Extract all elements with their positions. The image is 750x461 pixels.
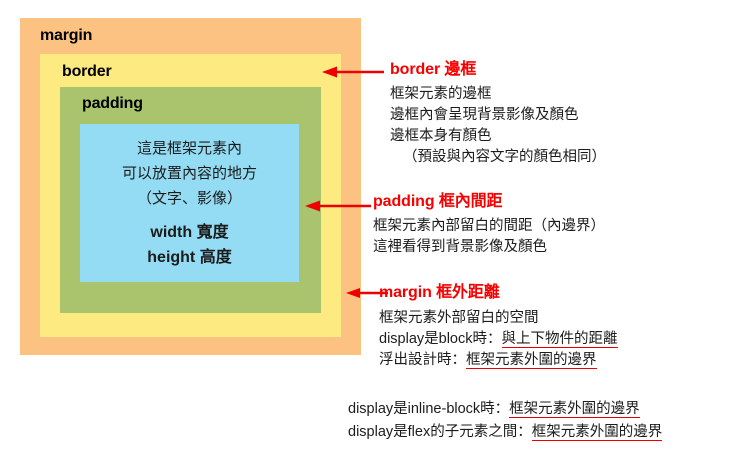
content-line-3: （文字、影像） bbox=[80, 186, 299, 211]
border-arrow-icon bbox=[320, 65, 386, 79]
annotation-border-line-4: （預設與內容文字的顏色相同） bbox=[390, 147, 606, 168]
annotation-extra-rule-2: display是flex的子元素之間：框架元素外圍的邊界 bbox=[348, 421, 662, 444]
annotation-extra-rule-1-prefix: display是inline-block時： bbox=[348, 401, 509, 417]
annotation-margin: margin 框外距離 框架元素外部留白的空間 display是block時：與… bbox=[379, 283, 618, 371]
box-model-diagram: margin border padding 這是框架元素內 可以放置內容的地方 … bbox=[0, 0, 750, 461]
annotation-padding: padding 框內間距 框架元素內部留白的間距（內邊界） 這裡看得到背景影像及… bbox=[373, 192, 605, 258]
content-spacer bbox=[80, 211, 299, 220]
content-box: 這是框架元素內 可以放置內容的地方 （文字、影像） width 寬度 heigh… bbox=[80, 124, 299, 282]
annotation-border-line-2: 邊框內會呈現背景影像及顏色 bbox=[390, 105, 606, 126]
annotation-padding-line-1: 框架元素內部留白的間距（內邊界） bbox=[373, 216, 605, 237]
content-line-1: 這是框架元素內 bbox=[80, 136, 299, 161]
margin-box-label: margin bbox=[40, 27, 92, 45]
content-width-label: width 寬度 bbox=[80, 220, 299, 245]
padding-box-label: padding bbox=[82, 95, 143, 113]
annotation-padding-body: 框架元素內部留白的間距（內邊界） 這裡看得到背景影像及顏色 bbox=[373, 216, 605, 258]
annotation-border-heading: border 邊框 bbox=[390, 60, 606, 80]
annotation-margin-rule-2-prefix: 浮出設計時： bbox=[379, 352, 466, 368]
annotation-border-body: 框架元素的邊框 邊框內會呈現背景影像及顏色 邊框本身有顏色 （預設與內容文字的顏… bbox=[390, 84, 606, 168]
annotation-margin-body: 框架元素外部留白的空間 display是block時：與上下物件的距離 浮出設計… bbox=[379, 308, 618, 371]
annotation-margin-heading: margin 框外距離 bbox=[379, 283, 618, 303]
annotation-margin-line-1: 框架元素外部留白的空間 bbox=[379, 308, 618, 329]
annotation-border-line-3: 邊框本身有顏色 bbox=[390, 126, 606, 147]
annotation-extra-rule-1-underlined: 框架元素外圍的邊界 bbox=[509, 401, 640, 418]
annotation-padding-line-2: 這裡看得到背景影像及顏色 bbox=[373, 237, 605, 258]
margin-box: margin border padding 這是框架元素內 可以放置內容的地方 … bbox=[20, 18, 361, 355]
annotation-extra-rules: display是inline-block時：框架元素外圍的邊界 display是… bbox=[348, 398, 662, 444]
annotation-extra-rule-2-underlined: 框架元素外圍的邊界 bbox=[532, 424, 663, 441]
annotation-extra-rule-1: display是inline-block時：框架元素外圍的邊界 bbox=[348, 398, 662, 421]
padding-box: padding 這是框架元素內 可以放置內容的地方 （文字、影像） width … bbox=[60, 87, 321, 313]
annotation-padding-heading: padding 框內間距 bbox=[373, 192, 605, 212]
annotation-margin-rule-1-prefix: display是block時： bbox=[379, 331, 502, 347]
border-box-label: border bbox=[62, 63, 111, 81]
border-box: border padding 這是框架元素內 可以放置內容的地方 （文字、影像）… bbox=[40, 54, 341, 337]
annotation-border: border 邊框 框架元素的邊框 邊框內會呈現背景影像及顏色 邊框本身有顏色 … bbox=[390, 60, 606, 168]
annotation-margin-rule-2: 浮出設計時：框架元素外圍的邊界 bbox=[379, 350, 618, 371]
content-box-text: 這是框架元素內 可以放置內容的地方 （文字、影像） width 寬度 heigh… bbox=[80, 136, 299, 270]
annotation-margin-rule-1: display是block時：與上下物件的距離 bbox=[379, 329, 618, 350]
annotation-margin-rule-1-underlined: 與上下物件的距離 bbox=[502, 331, 618, 348]
annotation-border-line-1: 框架元素的邊框 bbox=[390, 84, 606, 105]
padding-arrow-icon bbox=[303, 199, 373, 213]
content-height-label: height 高度 bbox=[80, 245, 299, 270]
annotation-margin-rule-2-underlined: 框架元素外圍的邊界 bbox=[466, 352, 597, 369]
annotation-extra-rule-2-prefix: display是flex的子元素之間： bbox=[348, 424, 532, 440]
content-line-2: 可以放置內容的地方 bbox=[80, 161, 299, 186]
